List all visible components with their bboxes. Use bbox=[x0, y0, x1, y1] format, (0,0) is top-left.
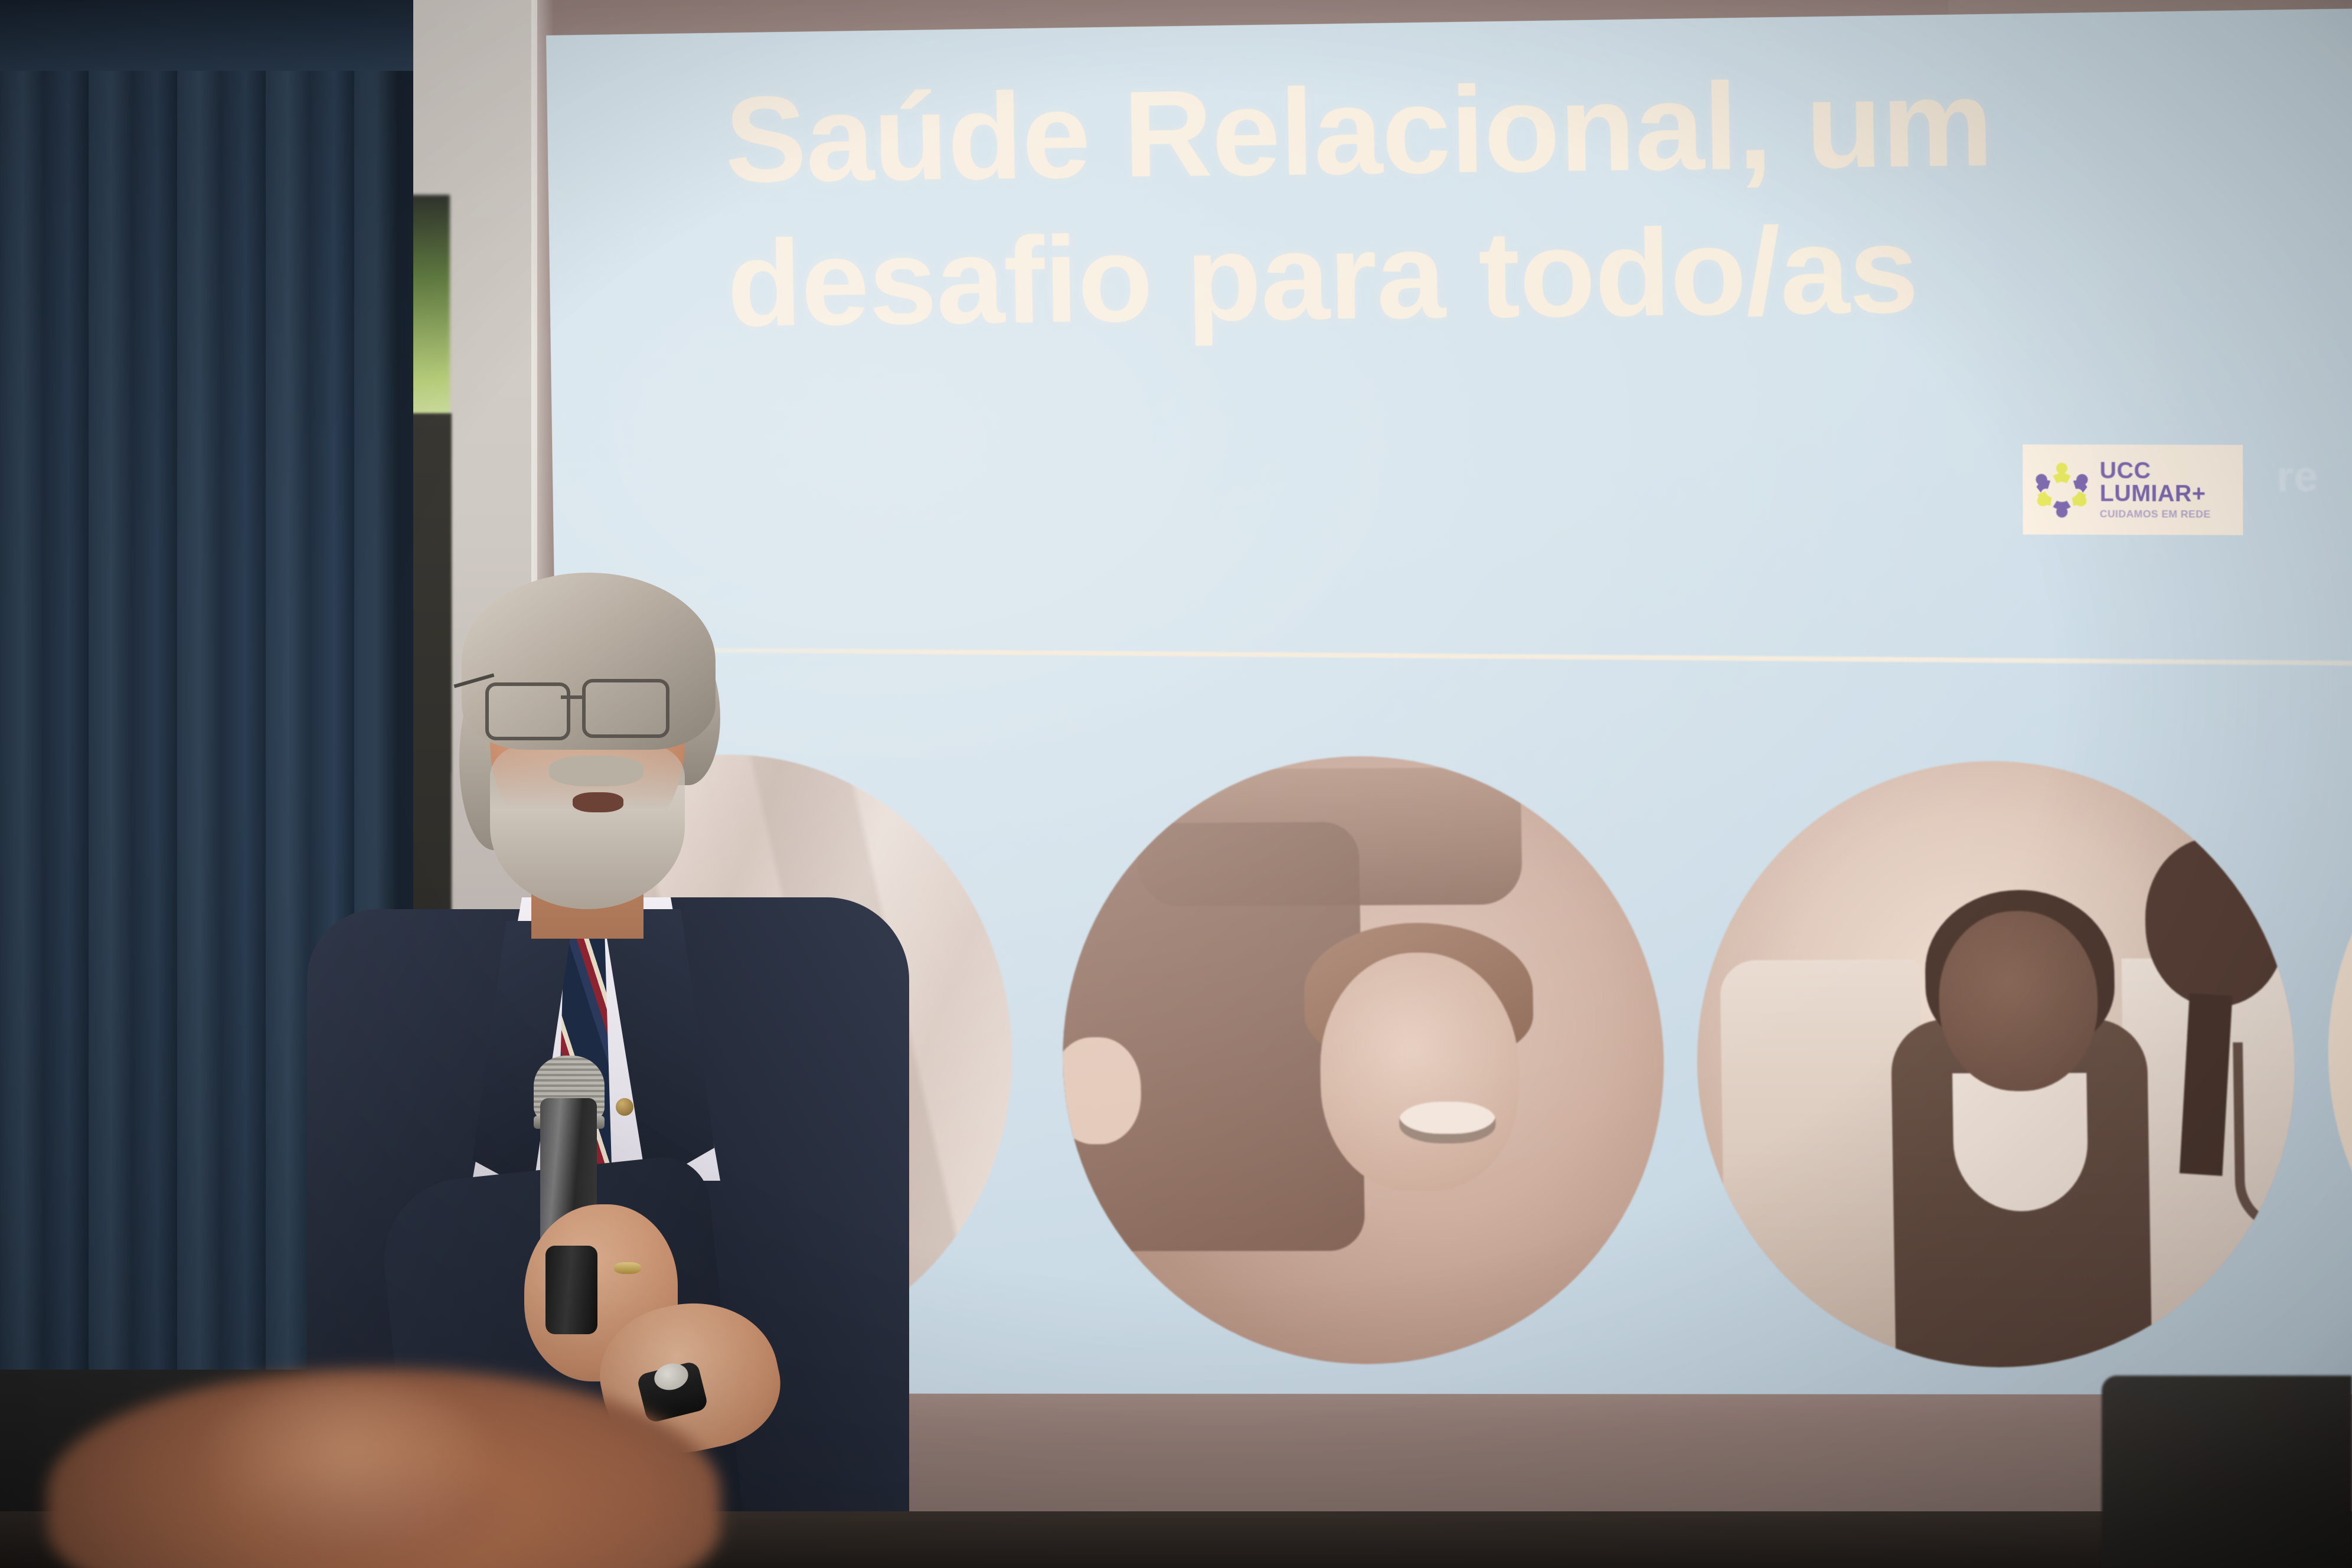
boy-hand bbox=[1059, 1037, 1142, 1145]
photo-circle-2 bbox=[1059, 754, 1668, 1364]
microphone-grip bbox=[545, 1246, 597, 1334]
slide-title: Saúde Relacional, um desafio para todo/a… bbox=[724, 48, 2112, 356]
boy-smile bbox=[1399, 1102, 1496, 1144]
presentation-photo: Saúde Relacional, um desafio para todo/a… bbox=[0, 0, 2352, 1568]
eyeglasses-lens-right bbox=[582, 679, 669, 738]
eyeglasses-lens-left bbox=[485, 682, 570, 740]
foreground-chair bbox=[2102, 1376, 2352, 1568]
eyeglasses-bridge bbox=[561, 695, 586, 699]
wedding-ring bbox=[614, 1262, 641, 1274]
photo-circle-4: Rui Marques Relational Lab bbox=[2324, 746, 2352, 1364]
ucc-lumiar-logo: UCC LUMIAR+ CUIDAMOS EM REDE bbox=[2023, 445, 2243, 535]
logo-text-block: UCC LUMIAR+ CUIDAMOS EM REDE bbox=[2099, 459, 2235, 520]
people-network-icon bbox=[2030, 458, 2094, 521]
clipped-second-logo: re bbox=[2276, 452, 2318, 501]
photo-circle-3 bbox=[1693, 759, 2299, 1367]
logo-tagline: CUIDAMOS EM REDE bbox=[2100, 508, 2236, 520]
curtain-rail bbox=[0, 0, 413, 71]
logo-name: UCC LUMIAR+ bbox=[2099, 459, 2235, 505]
stethoscope-icon bbox=[2233, 1042, 2299, 1233]
nurse-face bbox=[1938, 911, 2099, 1092]
moustache bbox=[549, 756, 643, 786]
slide-title-line-2: desafio para todo/as bbox=[726, 194, 2112, 356]
mouth bbox=[573, 792, 623, 812]
blazer-button-top bbox=[616, 1098, 633, 1116]
slide-title-line-1: Saúde Relacional, um bbox=[724, 48, 2110, 212]
audience-hair-highlight bbox=[195, 1381, 502, 1559]
nurse-collar bbox=[1952, 1073, 2089, 1211]
doctor-head bbox=[2144, 838, 2288, 1007]
boy-face bbox=[1319, 952, 1521, 1191]
